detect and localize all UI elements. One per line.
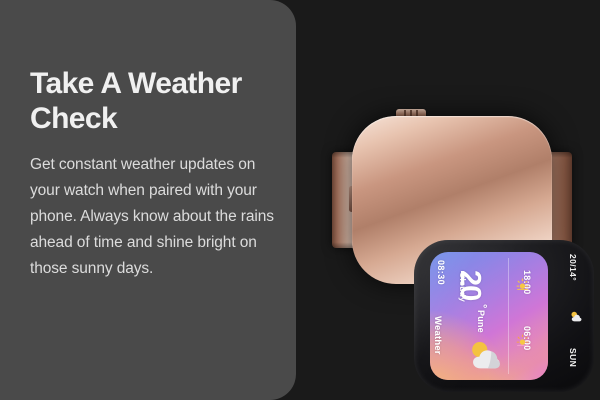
watch-bezel: 08:30 Weather Cloudy 20 ° Pune 18:00 06:…: [414, 240, 594, 392]
watch-face-degree-symbol: °: [476, 304, 488, 308]
watch-face-app-label: Weather: [432, 316, 443, 355]
sun-behind-cloud-icon: [468, 338, 504, 372]
sunrise-icon: [516, 334, 529, 347]
promo-description: Get constant weather updates on your wat…: [30, 152, 288, 282]
watch-face-day: SUN: [568, 348, 578, 367]
watch-face-time: 08:30: [436, 260, 446, 285]
watch-face-high-low: 20/14°: [568, 254, 578, 281]
screen-divider: [508, 258, 509, 374]
sun-behind-cloud-icon-small: [570, 310, 583, 323]
watch-screen[interactable]: 08:30 Weather Cloudy 20 ° Pune 18:00 06:…: [430, 252, 548, 380]
watch-product-image: 08:30 Weather Cloudy 20 ° Pune 18:00 06:…: [300, 0, 600, 400]
watch-face-city: Pune: [476, 310, 486, 333]
sunset-icon: [516, 278, 529, 291]
watch-face-temperature: 20: [455, 270, 484, 300]
watch-face-side-info: 20/14° SUN: [554, 250, 590, 382]
promo-slide: Take A Weather Check Get constant weathe…: [0, 0, 600, 400]
text-panel: Take A Weather Check Get constant weathe…: [0, 0, 296, 400]
page-title: Take A Weather Check: [30, 66, 276, 136]
watch-case: 08:30 Weather Cloudy 20 ° Pune 18:00 06:…: [352, 116, 552, 284]
